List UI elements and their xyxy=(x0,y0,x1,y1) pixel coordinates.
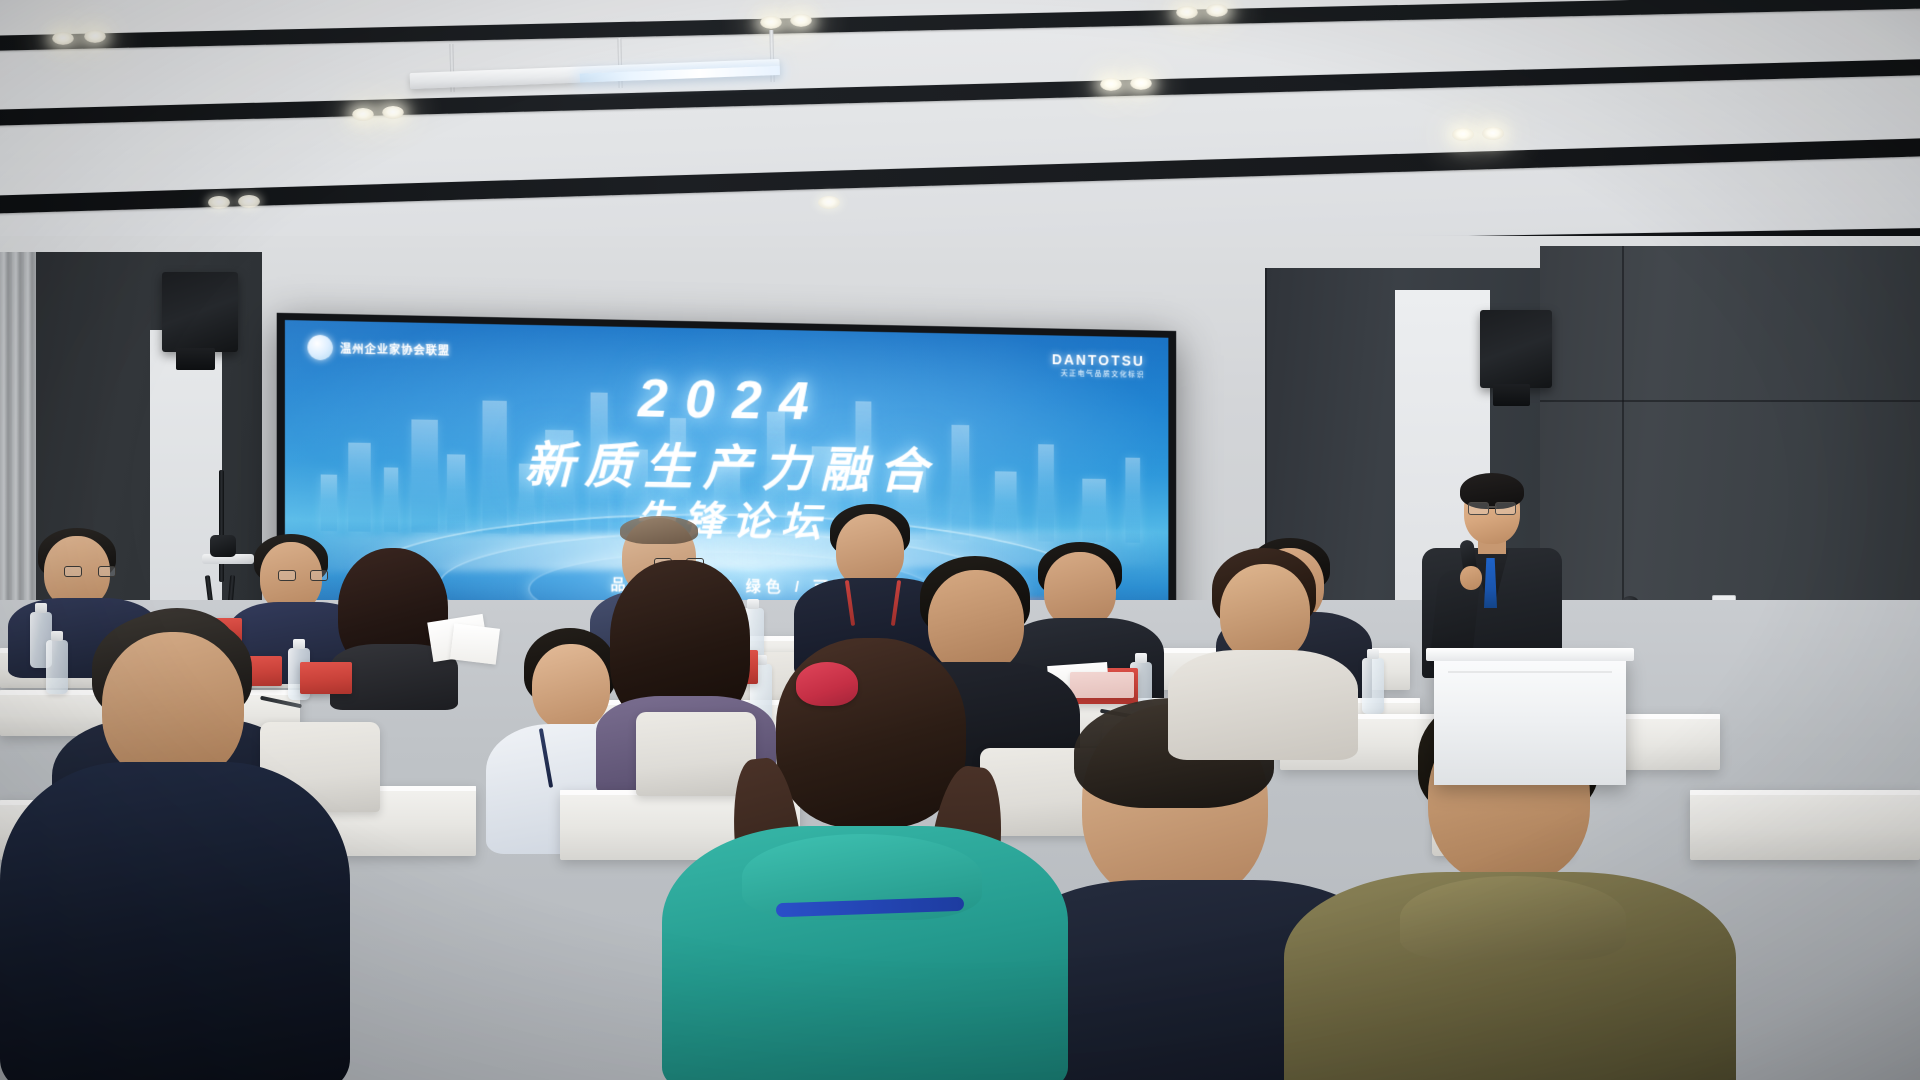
head xyxy=(102,632,244,782)
ceiling-spotlight xyxy=(238,195,260,208)
ceiling-beam xyxy=(0,0,1920,51)
ceiling-spotlight xyxy=(818,196,840,209)
ceiling-spotlight xyxy=(84,30,106,43)
screen-left-logo: 温州企业家协会联盟 xyxy=(307,335,450,363)
ceiling-spotlight xyxy=(1176,6,1198,19)
torso xyxy=(0,762,350,1080)
attendee-front-left-navy xyxy=(30,612,330,1080)
hood xyxy=(1400,876,1626,960)
hair xyxy=(776,638,966,828)
table xyxy=(1690,790,1920,860)
ceiling-spotlight xyxy=(382,106,404,119)
ceiling-spotlight xyxy=(760,16,782,29)
red-hair-bow xyxy=(796,662,858,706)
attendee-front-teal-hoodie-bow xyxy=(680,638,1050,1080)
circle-logo-mark xyxy=(307,335,333,361)
ceiling-beam xyxy=(0,58,1920,126)
ceiling-spotlight xyxy=(1100,78,1122,91)
ceiling-spotlight xyxy=(1130,77,1152,90)
glasses-icon xyxy=(278,570,328,579)
ceiling-spotlight xyxy=(52,32,74,45)
head xyxy=(532,644,610,730)
ceiling-spotlight xyxy=(352,108,374,121)
wall-speaker xyxy=(162,272,238,352)
torso xyxy=(1168,650,1358,760)
glasses-icon xyxy=(64,566,116,575)
white-lectern xyxy=(1434,655,1626,785)
attendee-side-right xyxy=(1172,548,1352,738)
wall-speaker xyxy=(1480,310,1552,388)
paper-sheet xyxy=(450,623,500,664)
presenter-hand xyxy=(1460,566,1482,590)
ceiling-spotlight xyxy=(1482,127,1504,140)
tripod-column xyxy=(219,470,224,582)
glasses-icon xyxy=(1468,502,1516,513)
ceiling-spotlight xyxy=(208,196,230,209)
hair xyxy=(620,516,698,544)
ceiling-beam xyxy=(0,137,1920,214)
ceiling-spotlight xyxy=(1452,128,1474,141)
head xyxy=(1220,564,1310,662)
screen-left-logo-text: 温州企业家协会联盟 xyxy=(340,340,450,358)
wall-panel-seam xyxy=(1540,400,1920,402)
pink-notepad xyxy=(1070,672,1134,698)
conference-photo: 温州企业家协会联盟 DANTOTSU 天正电气品质文化标识 2024 新质生产力… xyxy=(0,0,1920,1080)
brand-name-en: DANTOTSU xyxy=(1052,351,1145,369)
ceiling-spotlight xyxy=(790,14,812,27)
ceiling-spotlight xyxy=(1206,4,1228,17)
